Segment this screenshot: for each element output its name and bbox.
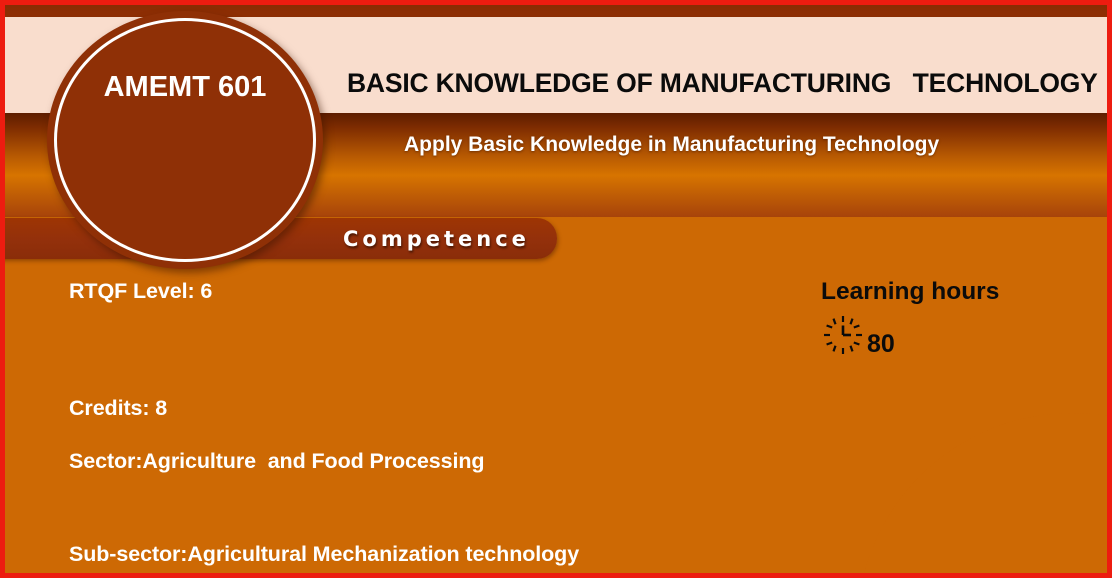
- body-band: [5, 217, 1107, 573]
- slide-canvas: Competence AMEMT 601 BASIC KNOWLEDGE OF …: [0, 0, 1112, 578]
- clock-icon: [819, 313, 871, 359]
- competence-label: Competence: [343, 227, 530, 251]
- rtqf-level-text: RTQF Level: 6: [69, 279, 212, 304]
- learning-hours-title: Learning hours: [821, 278, 999, 306]
- sub-sector-text: Sub-sector:Agricultural Mechanization te…: [69, 542, 579, 567]
- sector-text: Sector:Agriculture and Food Processing: [69, 449, 484, 474]
- course-code-label: AMEMT 601: [47, 11, 323, 269]
- course-subtitle: Apply Basic Knowledge in Manufacturing T…: [404, 133, 939, 157]
- credits-text: Credits: 8: [69, 396, 167, 421]
- learning-hours-row: 80: [819, 313, 895, 359]
- course-title: BASIC KNOWLEDGE OF MANUFACTURING TECHNOL…: [347, 68, 1098, 99]
- learning-hours-value: 80: [867, 332, 895, 357]
